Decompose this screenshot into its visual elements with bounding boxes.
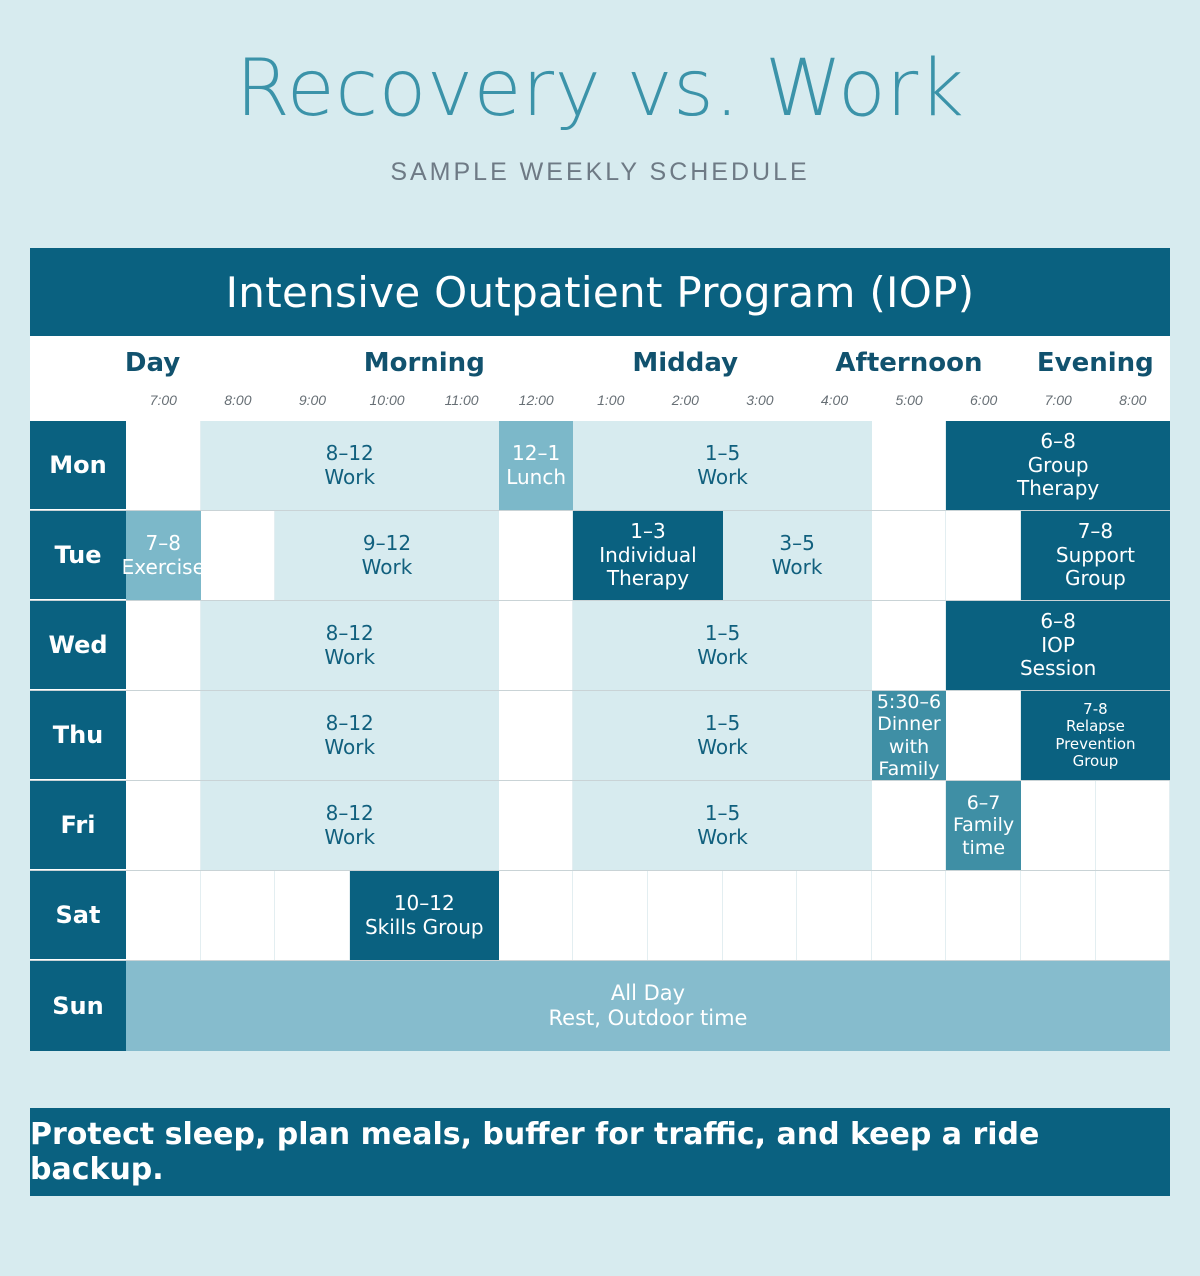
event-block[interactable]: 8–12Work <box>201 601 499 690</box>
event-time: 1–5 <box>705 712 740 736</box>
event-label: Prevention <box>1055 736 1135 753</box>
event-block[interactable]: 8–12Work <box>201 421 499 510</box>
event-time: 1–5 <box>705 442 740 466</box>
column-group-label-day: Day <box>30 348 275 388</box>
day-label-sun: Sun <box>30 961 126 1051</box>
event-block[interactable]: 9–12Work <box>275 511 499 600</box>
time-slot[interactable] <box>499 781 574 870</box>
time-slot[interactable] <box>201 511 276 600</box>
event-time: 1–5 <box>705 622 740 646</box>
event-time: All Day <box>611 981 685 1006</box>
time-slot[interactable] <box>499 691 574 780</box>
event-block-layer: 8–12Work1–5Work6–8IOPSession <box>126 601 1170 690</box>
schedule-row: Tue7–8Exercise9–12Work1–3IndividualThera… <box>30 511 1170 601</box>
event-label: Work <box>324 466 375 490</box>
event-block[interactable]: 6–8IOPSession <box>946 601 1170 690</box>
event-time: 9–12 <box>363 532 411 556</box>
time-slot[interactable] <box>648 871 723 960</box>
time-slot[interactable] <box>946 871 1021 960</box>
page-subtitle: SAMPLE WEEKLY SCHEDULE <box>0 158 1200 187</box>
day-label-thu: Thu <box>30 691 126 780</box>
event-block-layer: 8–12Work12–1Lunch1–5Work6–8GroupTherapy <box>126 421 1170 510</box>
event-block[interactable]: 1–5Work <box>573 421 871 510</box>
event-label: Group <box>1028 454 1089 478</box>
event-block[interactable]: 10–12Skills Group <box>350 871 499 960</box>
time-slot[interactable] <box>1096 781 1171 870</box>
day-label-sat: Sat <box>30 871 126 960</box>
time-slot[interactable] <box>499 511 574 600</box>
event-time: 7–8 <box>1078 520 1113 544</box>
schedule-card: Intensive Outpatient Program (IOP) DayMo… <box>30 248 1170 1051</box>
time-slot[interactable] <box>126 421 201 510</box>
event-label: Session <box>1020 657 1096 681</box>
event-label: Work <box>697 826 748 850</box>
footer-note: Protect sleep, plan meals, buffer for tr… <box>30 1108 1170 1196</box>
column-group-label-evening: Evening <box>1021 348 1170 388</box>
event-time: 6–8 <box>1040 430 1075 454</box>
card-header: Intensive Outpatient Program (IOP) <box>30 248 1170 336</box>
event-block[interactable]: 1–5Work <box>573 781 871 870</box>
event-label: Work <box>697 466 748 490</box>
hour-tick: 5:00 <box>872 392 947 416</box>
event-time: 1–3 <box>630 520 665 544</box>
event-time: 7–8 <box>146 532 181 556</box>
day-label-fri: Fri <box>30 781 126 870</box>
event-label: Dinner <box>877 713 941 735</box>
hour-tick: 7:00 <box>1021 392 1096 416</box>
time-slot[interactable] <box>1021 871 1096 960</box>
page-title: Recovery vs. Work <box>0 46 1200 132</box>
event-time: 8–12 <box>326 622 374 646</box>
event-label: Relapse <box>1066 718 1125 735</box>
event-block[interactable]: 8–12Work <box>201 781 499 870</box>
schedule-row: Mon8–12Work12–1Lunch1–5Work6–8GroupThera… <box>30 421 1170 511</box>
day-label-mon: Mon <box>30 421 126 510</box>
event-block[interactable]: 6–7Familytime <box>946 781 1021 870</box>
event-block[interactable]: All DayRest, Outdoor time <box>126 961 1170 1051</box>
event-time: 3–5 <box>779 532 814 556</box>
time-slot[interactable] <box>499 871 574 960</box>
time-slot[interactable] <box>872 421 947 510</box>
event-block[interactable]: 7–8SupportGroup <box>1021 511 1170 600</box>
time-slot[interactable] <box>126 601 201 690</box>
day-label-tue: Tue <box>30 511 126 600</box>
slot-track: 8–12Work1–5Work6–7Familytime <box>126 781 1170 870</box>
hour-tick: 1:00 <box>573 392 648 416</box>
time-slot[interactable] <box>1096 871 1171 960</box>
event-block[interactable]: 1–5Work <box>573 691 871 780</box>
hour-tick: 12:00 <box>499 392 574 416</box>
schedule-row: Fri8–12Work1–5Work6–7Familytime <box>30 781 1170 871</box>
event-time: 7-8 <box>1083 701 1108 718</box>
time-slot[interactable] <box>946 511 1021 600</box>
column-group-label-morning: Morning <box>275 348 573 388</box>
hour-tick: 4:00 <box>797 392 872 416</box>
schedule-row: SunAll DayRest, Outdoor time <box>30 961 1170 1051</box>
event-label: Family <box>878 758 939 780</box>
time-slot[interactable] <box>126 781 201 870</box>
event-label: Lunch <box>506 466 566 490</box>
event-label: Group <box>1073 753 1119 770</box>
schedule-row: Sat10–12Skills Group <box>30 871 1170 961</box>
event-time: 10–12 <box>394 892 455 916</box>
event-label: Work <box>697 736 748 760</box>
event-block-layer: All DayRest, Outdoor time <box>126 961 1170 1051</box>
hour-tick: 9:00 <box>275 392 350 416</box>
slot-track: 8–12Work1–5Work5:30–6DinnerwithFamily7-8… <box>126 691 1170 780</box>
event-time: 8–12 <box>326 442 374 466</box>
event-time: 12–1 <box>512 442 560 466</box>
hour-tick: 8:00 <box>201 392 276 416</box>
slot-track: All DayRest, Outdoor time <box>126 961 1170 1051</box>
time-slot[interactable] <box>872 601 947 690</box>
event-label: Work <box>772 556 823 580</box>
slot-track: 8–12Work1–5Work6–8IOPSession <box>126 601 1170 690</box>
event-label: with <box>889 736 929 758</box>
hour-tick: 2:00 <box>648 392 723 416</box>
column-group-label-midday: Midday <box>573 348 797 388</box>
event-label: Work <box>697 646 748 670</box>
event-block-layer: 8–12Work1–5Work6–7Familytime <box>126 781 1170 870</box>
event-label: Support <box>1056 544 1135 568</box>
event-label: Group <box>1065 567 1126 591</box>
event-time: 6–7 <box>967 792 1001 814</box>
hour-tick: 6:00 <box>946 392 1021 416</box>
event-label: IOP <box>1041 634 1075 658</box>
event-label: Work <box>324 646 375 670</box>
time-slot[interactable] <box>723 871 798 960</box>
event-block[interactable]: 6–8GroupTherapy <box>946 421 1170 510</box>
event-label: Individual <box>599 544 696 568</box>
event-time: 6–8 <box>1040 610 1075 634</box>
hour-tick: 11:00 <box>424 392 499 416</box>
event-block[interactable]: 7–8Exercise <box>126 511 201 600</box>
time-slot[interactable] <box>797 871 872 960</box>
time-slot[interactable] <box>573 871 648 960</box>
event-block[interactable]: 3–5Work <box>723 511 872 600</box>
time-slot[interactable] <box>126 871 201 960</box>
infographic-page: Recovery vs. Work SAMPLE WEEKLY SCHEDULE… <box>0 0 1200 1276</box>
time-slot[interactable] <box>946 691 1021 780</box>
event-block[interactable]: 1–5Work <box>573 601 871 690</box>
event-label: Work <box>324 826 375 850</box>
time-slot[interactable] <box>275 871 350 960</box>
day-label-wed: Wed <box>30 601 126 690</box>
event-label: Work <box>362 556 413 580</box>
schedule-row: Thu8–12Work1–5Work5:30–6DinnerwithFamily… <box>30 691 1170 781</box>
column-group-labels: DayMorningMiddayAfternoonEvening <box>30 348 1170 388</box>
time-slot[interactable] <box>1021 781 1096 870</box>
event-block[interactable]: 7-8RelapsePreventionGroup <box>1021 691 1170 780</box>
event-label: Skills Group <box>365 916 484 940</box>
column-header-band: DayMorningMiddayAfternoonEvening 7:008:0… <box>30 336 1170 421</box>
time-slot[interactable] <box>872 781 947 870</box>
hour-tick: 7:00 <box>126 392 201 416</box>
event-label: Therapy <box>607 567 689 591</box>
hour-tick: 8:00 <box>1096 392 1171 416</box>
hour-tick-axis: 7:008:009:0010:0011:0012:001:002:003:004… <box>126 392 1170 416</box>
slot-track: 7–8Exercise9–12Work1–3IndividualTherapy3… <box>126 511 1170 600</box>
event-time: 1–5 <box>705 802 740 826</box>
hour-tick: 3:00 <box>723 392 798 416</box>
event-label: Therapy <box>1017 477 1099 501</box>
time-slot[interactable] <box>126 691 201 780</box>
event-label: Family <box>953 814 1014 836</box>
event-label: Work <box>324 736 375 760</box>
event-time: 8–12 <box>326 802 374 826</box>
column-group-label-afternoon: Afternoon <box>797 348 1021 388</box>
schedule-row: Wed8–12Work1–5Work6–8IOPSession <box>30 601 1170 691</box>
event-time: 5:30–6 <box>877 691 941 713</box>
time-slot[interactable] <box>872 511 947 600</box>
event-block[interactable]: 12–1Lunch <box>499 421 574 510</box>
slot-track: 8–12Work12–1Lunch1–5Work6–8GroupTherapy <box>126 421 1170 510</box>
event-label: time <box>962 837 1005 859</box>
event-block[interactable]: 1–3IndividualTherapy <box>573 511 722 600</box>
event-label: Exercise <box>122 556 205 580</box>
schedule-grid: Mon8–12Work12–1Lunch1–5Work6–8GroupThera… <box>30 421 1170 1051</box>
event-label: Rest, Outdoor time <box>549 1006 748 1031</box>
event-block[interactable]: 5:30–6DinnerwithFamily <box>872 691 947 780</box>
time-slot[interactable] <box>201 871 276 960</box>
hour-tick: 10:00 <box>350 392 425 416</box>
event-time: 8–12 <box>326 712 374 736</box>
time-slot[interactable] <box>499 601 574 690</box>
slot-track: 10–12Skills Group <box>126 871 1170 960</box>
event-block[interactable]: 8–12Work <box>201 691 499 780</box>
time-slot[interactable] <box>872 871 947 960</box>
